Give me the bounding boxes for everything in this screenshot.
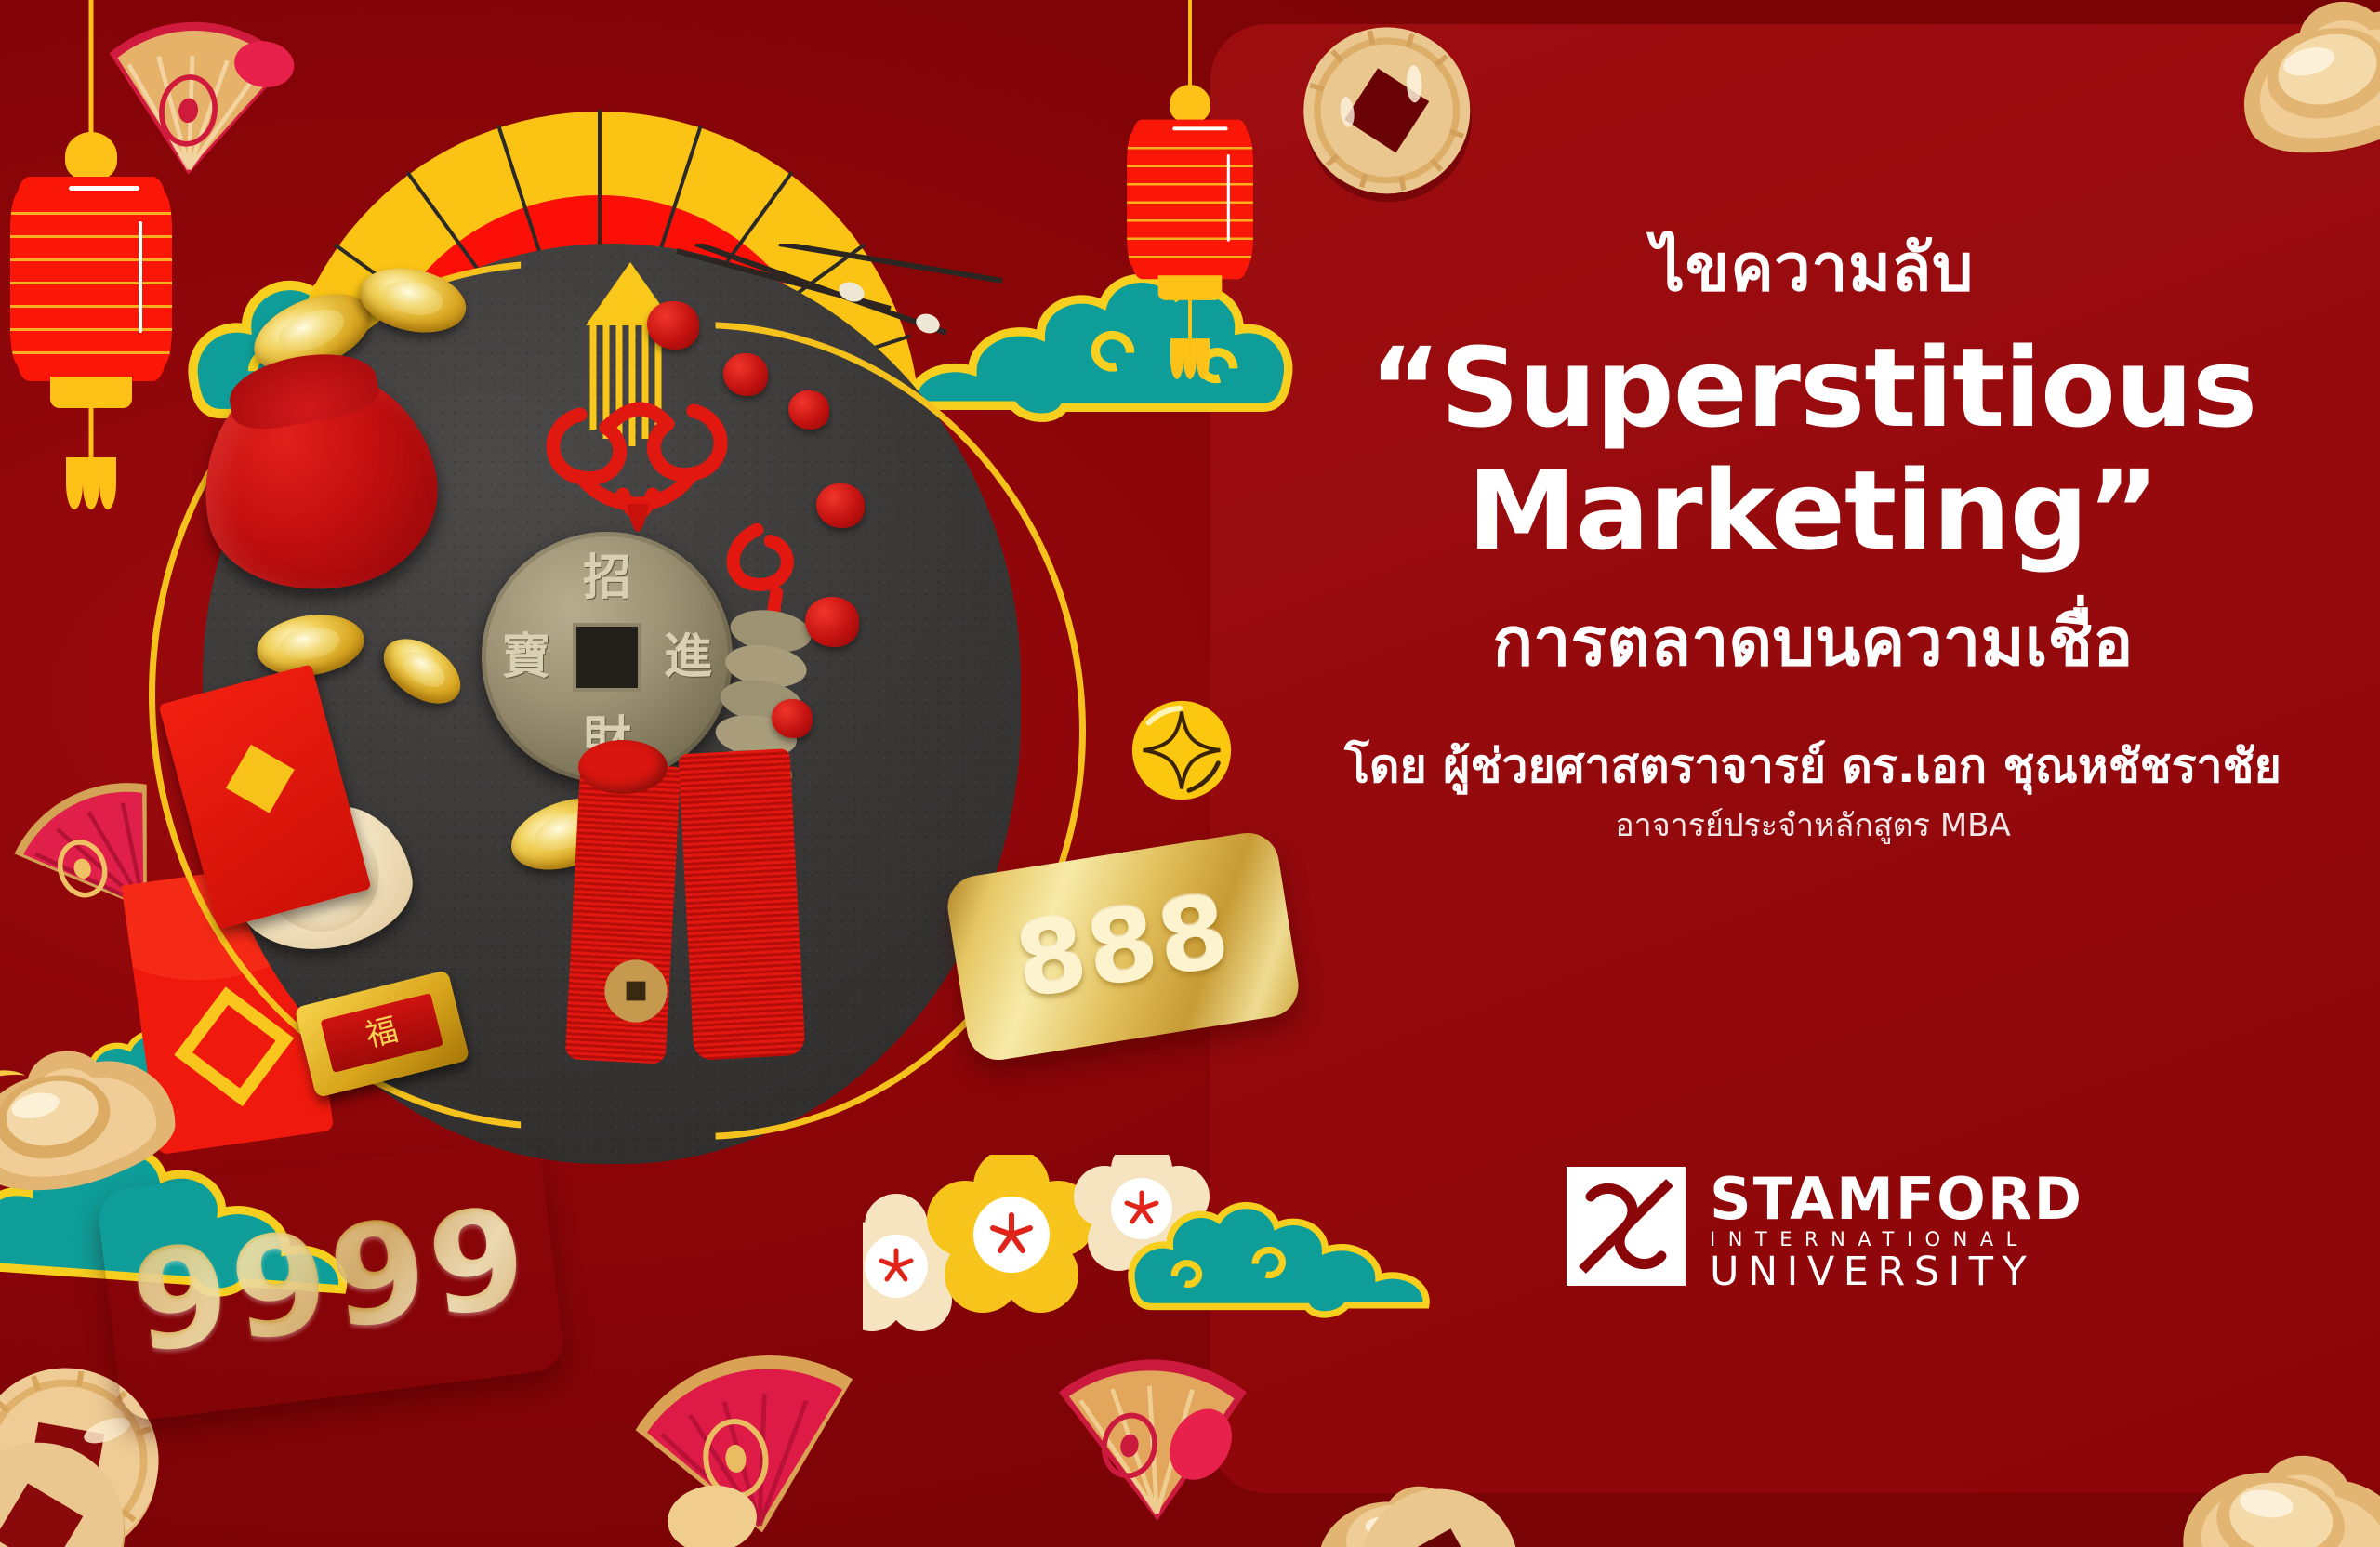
envelope-diamond: [226, 745, 295, 813]
lantern-tail-cord: [89, 406, 94, 462]
author-role: อาจารย์ประจำหลักสูตร MBA: [1264, 807, 2361, 845]
tassel-knot-center: [578, 740, 668, 794]
plum-bud: [805, 597, 859, 647]
title-line-2: Marketing”: [1264, 449, 2361, 572]
title-line-1: “Superstitious: [1264, 326, 2361, 449]
lantern-highlight-side: [139, 221, 142, 333]
lantern-knob: [1170, 85, 1210, 123]
coin-center-hole: [573, 623, 641, 692]
lantern-tail-cord: [1188, 298, 1192, 342]
gold-ingot-bottomright-corner: [2154, 1395, 2380, 1547]
stamford-logo: STAMFORD INTERNATIONAL UNIVERSITY: [1567, 1167, 2083, 1292]
fan-ribs-on-tray: [668, 244, 1021, 374]
logo-line-stamford: STAMFORD: [1710, 1172, 2083, 1227]
poster-text-block: ไขความลับ “Superstitious Marketing” การต…: [1264, 232, 2361, 845]
lantern-highlight-top: [1172, 126, 1227, 130]
plum-bud: [788, 390, 829, 430]
plum-bud: [816, 483, 865, 528]
lantern-cord: [1188, 0, 1192, 90]
lantern-body: [1132, 120, 1249, 280]
lantern-tassel: [1170, 338, 1210, 382]
new-year-flatlay-photo: 招 進 財 寶: [203, 244, 1021, 1173]
lantern-base: [50, 377, 132, 408]
red-tassel-right: [678, 748, 805, 1061]
plum-bud: [772, 699, 813, 738]
red-chinese-knot: [530, 355, 744, 560]
lantern-base: [1158, 275, 1223, 300]
coin-char-left: 寶: [502, 633, 550, 681]
lantern-tassel: [66, 457, 116, 513]
poster-canvas: 招 進 財 寶: [0, 0, 2380, 1547]
chinese-coin-topright: [1274, 0, 1505, 229]
lantern-highlight-top: [69, 186, 139, 191]
sparkle-coin: [1127, 695, 1236, 805]
lucky-number-888: 888: [1008, 872, 1238, 1021]
folding-fan-red-bottom: [603, 1326, 885, 1547]
auspicious-cloud-bottom-center: [1121, 1184, 1441, 1322]
coin-char-top: 招: [583, 554, 631, 602]
author-name: โดย ผู้ช่วยศาสตราจารย์ ดร.เอก ชุณหชัชราช…: [1264, 738, 2361, 794]
stamford-logo-text: STAMFORD INTERNATIONAL UNIVERSITY: [1710, 1167, 2083, 1292]
small-coin-on-tray: [602, 958, 669, 1025]
charm-plate: [320, 993, 443, 1073]
stamford-s-monogram-icon: [1567, 1167, 1686, 1286]
subtitle-text: การตลาดบนความเชื่อ: [1264, 603, 2361, 681]
lantern-body: [17, 177, 165, 381]
page-title: “Superstitious Marketing”: [1264, 326, 2361, 572]
lantern-highlight-side: [1227, 154, 1230, 242]
lucky-number-9999: 9999: [124, 1177, 538, 1384]
kicker-text: ไขความลับ: [1264, 232, 2361, 304]
folding-fan-cream-bottom: [1014, 1301, 1268, 1547]
logo-line-university: UNIVERSITY: [1710, 1252, 2083, 1292]
